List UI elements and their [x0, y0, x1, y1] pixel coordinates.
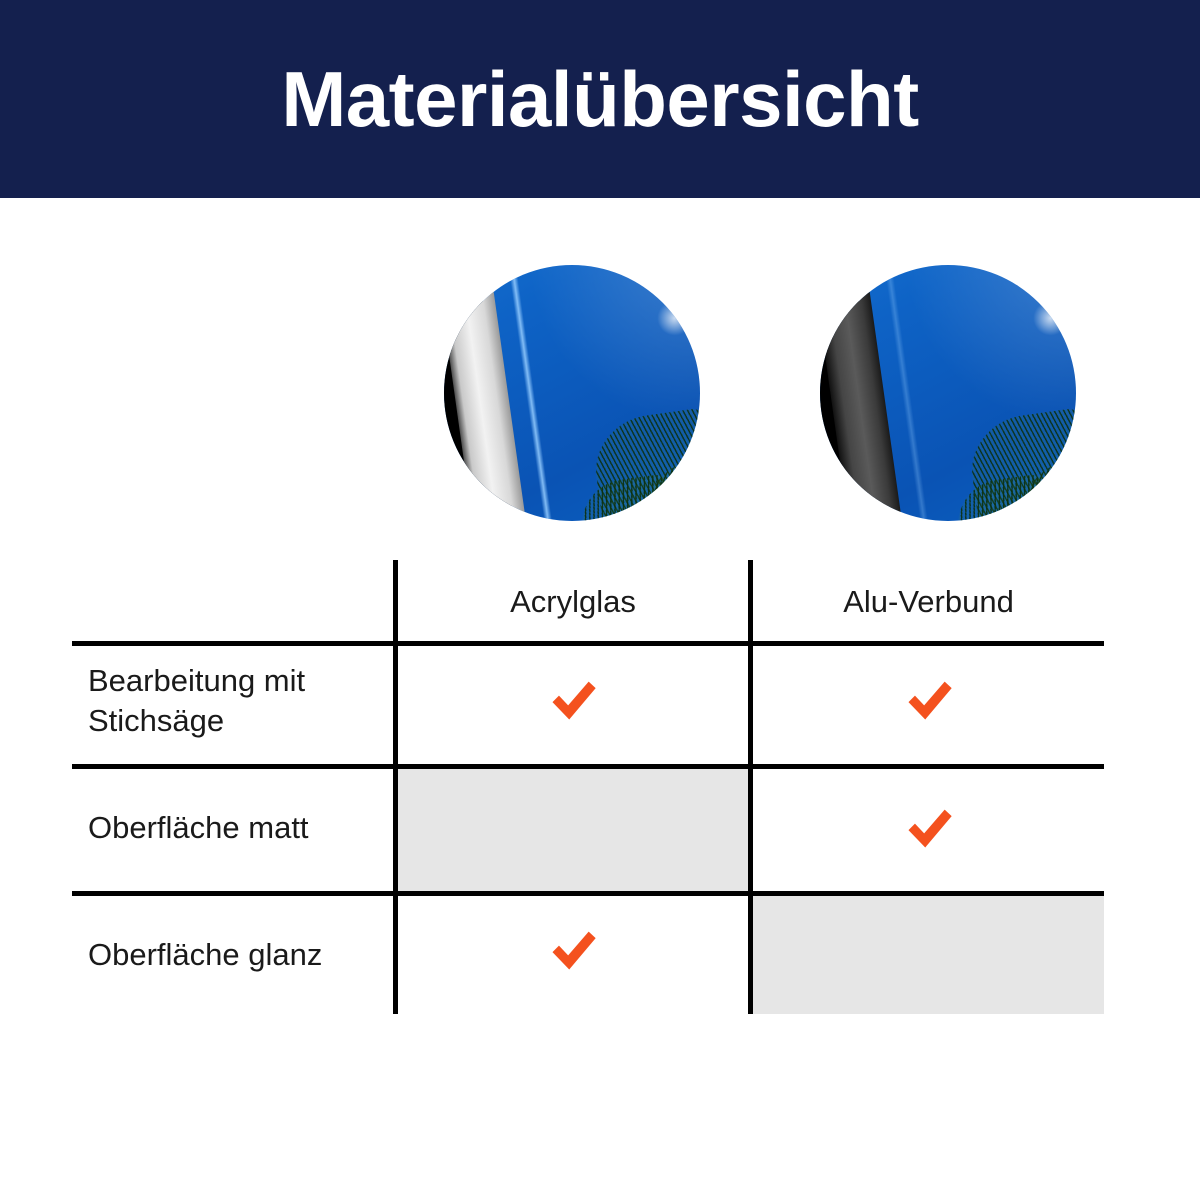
alu-verbund-product-image[interactable] [820, 265, 1076, 521]
check-icon [546, 673, 600, 727]
material-swatch-row [0, 265, 1200, 521]
alu-verbund-scene [820, 265, 1076, 521]
acrylglas-product-image[interactable] [444, 265, 700, 521]
check-icon [902, 801, 956, 855]
row-label-oberflaeche-matt: Oberfläche matt [88, 808, 388, 848]
row-divider-1 [72, 764, 1104, 769]
row-divider-header [72, 641, 1104, 646]
column-header-alu-verbund: Alu-Verbund [753, 572, 1104, 632]
cell-acrylglas-oberflaeche-matt-unavailable [398, 769, 748, 891]
check-icon [546, 923, 600, 977]
cell-alu-verbund-oberflaeche-glanz-unavailable [753, 896, 1104, 1014]
page-title: Materialübersicht [281, 60, 918, 138]
check-icon [902, 673, 956, 727]
row-label-bearbeitung-mit-stichsaege: Bearbeitung mit Stichsäge [88, 661, 388, 741]
page-header: Materialübersicht [0, 0, 1200, 198]
material-comparison-table: Acrylglas Alu-Verbund Bearbeitung mit St… [72, 558, 1104, 1014]
column-header-acrylglas: Acrylglas [398, 572, 748, 632]
acrylglas-scene [444, 265, 700, 521]
row-label-oberflaeche-glanz: Oberfläche glanz [88, 935, 388, 975]
row-divider-2 [72, 891, 1104, 896]
